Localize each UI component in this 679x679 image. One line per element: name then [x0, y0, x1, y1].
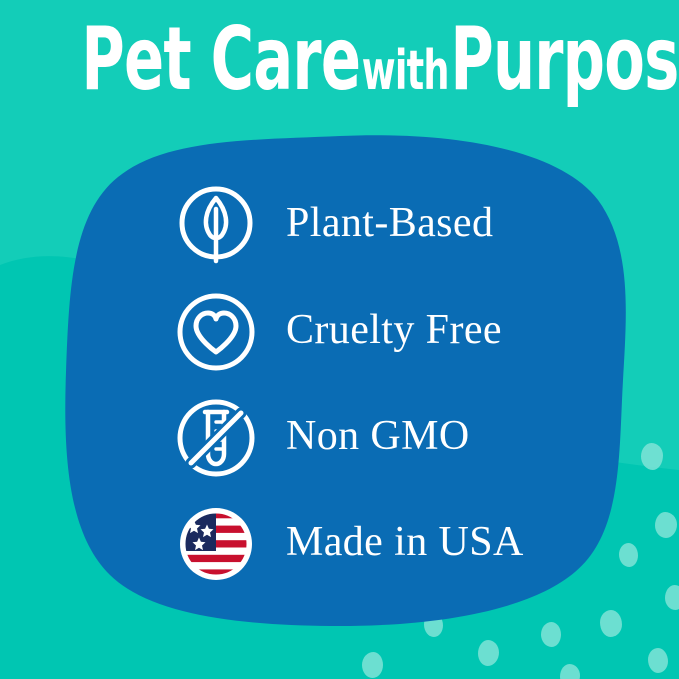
badge-label: Cruelty Free	[286, 309, 502, 355]
pet-care-with-purpose-poster: Pet CarewithPurpose® Plant-Based Cruelty…	[0, 0, 679, 679]
no-test-tube-icon	[172, 394, 260, 482]
badge-label: Made in USA	[286, 521, 524, 567]
badge-item-plant-based[interactable]: Plant-Based	[172, 181, 493, 269]
headline-part-1: Pet Care	[81, 9, 360, 110]
badge-item-cruelty-free[interactable]: Cruelty Free	[172, 288, 502, 376]
usa-flag-circle-icon	[172, 500, 260, 588]
leaf-in-circle-icon	[172, 181, 260, 269]
headline-part-2: with	[360, 38, 450, 102]
badge-item-made-in-usa[interactable]: Made in USA	[172, 500, 524, 588]
page-title: Pet CarewithPurpose®	[0, 16, 679, 90]
badge-label: Plant-Based	[286, 202, 493, 248]
headline-part-3: Purpose	[450, 9, 679, 110]
badge-item-non-gmo[interactable]: Non GMO	[172, 394, 470, 482]
badge-label: Non GMO	[286, 415, 470, 461]
heart-in-circle-icon	[172, 288, 260, 376]
